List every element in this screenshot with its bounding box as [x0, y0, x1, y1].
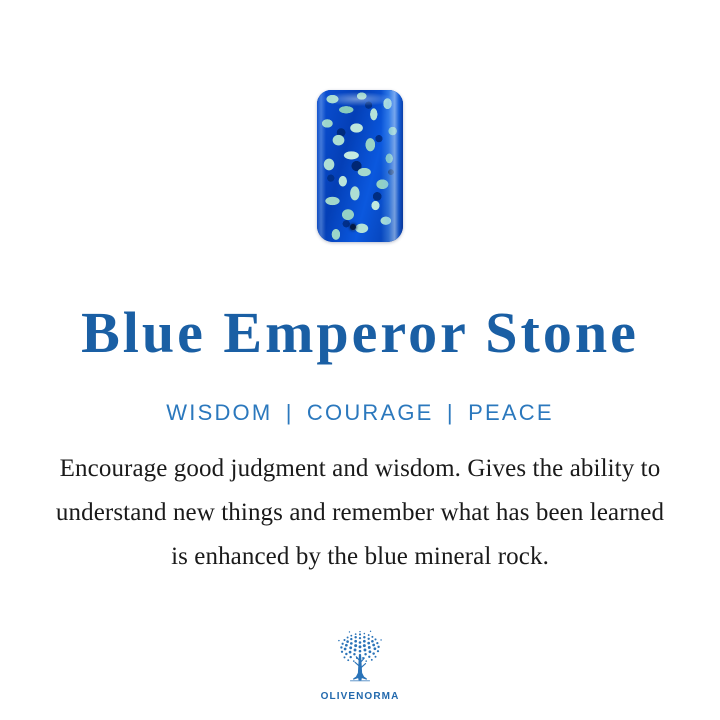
stone-drill-hole	[350, 224, 356, 230]
product-description: Encourage good judgment and wisdom. Give…	[24, 447, 696, 579]
attribute-courage: COURAGE	[307, 400, 434, 425]
product-attributes: WISDOM | COURAGE | PEACE	[0, 400, 720, 426]
tree-icon	[329, 627, 391, 689]
description-line: Encourage good judgment and wisdom. Give…	[24, 447, 696, 491]
stone-top-shine	[323, 92, 393, 106]
description-line: understand new things and remember what …	[24, 491, 696, 535]
blue-emperor-stone-image	[317, 90, 403, 242]
description-line: is enhanced by the blue mineral rock.	[24, 535, 696, 579]
attribute-separator-1: |	[281, 400, 299, 425]
product-info-card: Blue Emperor Stone WISDOM | COURAGE | PE…	[0, 0, 720, 720]
brand-name: OLIVENORMA	[321, 691, 400, 702]
product-image-container	[0, 86, 720, 246]
attribute-wisdom: WISDOM	[166, 400, 272, 425]
attribute-peace: PEACE	[468, 400, 554, 425]
attribute-separator-2: |	[442, 400, 460, 425]
stone-highlight-right	[381, 90, 403, 242]
stone-highlight-left	[317, 90, 326, 242]
page-title: Blue Emperor Stone	[0, 300, 720, 366]
brand-logo: OLIVENORMA	[0, 627, 720, 702]
